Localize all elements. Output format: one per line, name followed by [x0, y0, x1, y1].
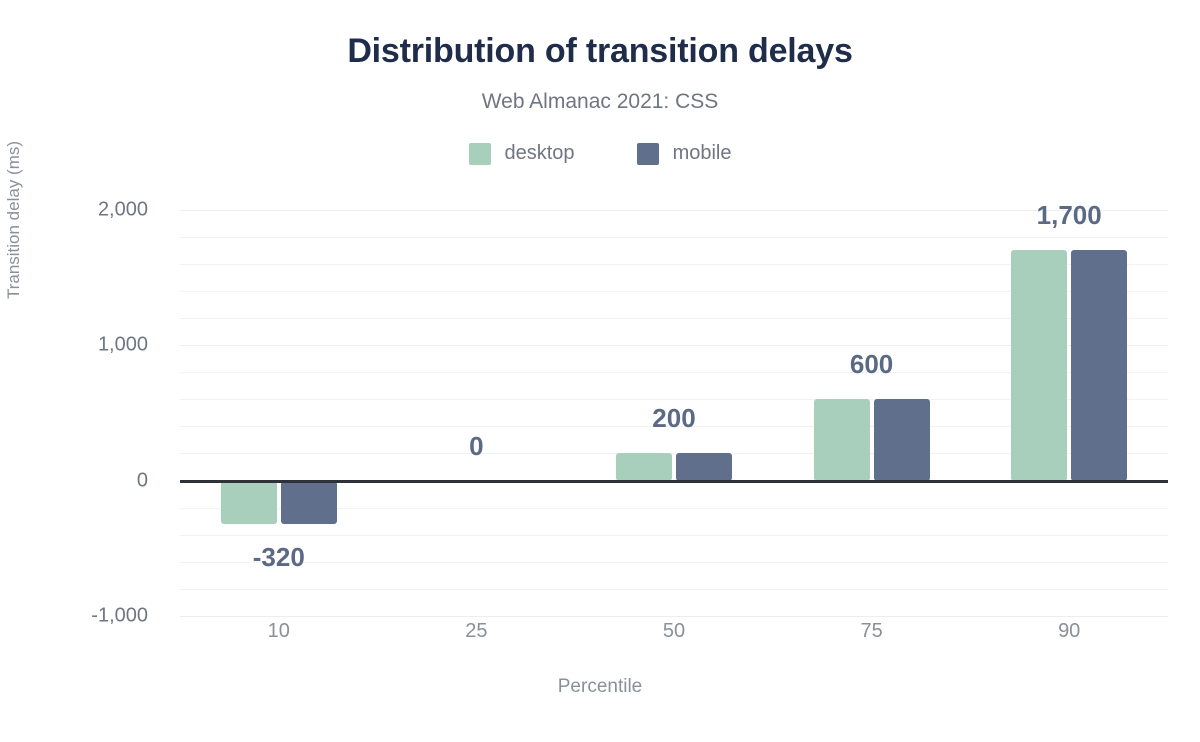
- bar-desktop-10[interactable]: [221, 481, 277, 524]
- x-axis-tick-label: 90: [989, 620, 1149, 643]
- legend-label-mobile: mobile: [673, 142, 732, 165]
- y-axis-tick-label: -1,000: [0, 605, 148, 628]
- chart-title: Distribution of transition delays: [0, 32, 1200, 71]
- legend-item-mobile[interactable]: mobile: [637, 142, 732, 165]
- legend-swatch-desktop: [469, 143, 491, 165]
- legend-swatch-mobile: [637, 143, 659, 165]
- x-axis-tick-label: 50: [594, 620, 754, 643]
- chart-container: Distribution of transition delays Web Al…: [0, 0, 1200, 742]
- plot-area: -1,00001,0002,0001025507590-32002006001,…: [180, 196, 1168, 616]
- bar-desktop-50[interactable]: [616, 453, 672, 480]
- y-axis-title: Transition delay (ms): [4, 70, 24, 370]
- x-axis-tick-label: 75: [792, 620, 952, 643]
- data-label-75: 600: [772, 349, 972, 380]
- bar-mobile-50[interactable]: [676, 453, 732, 480]
- data-label-50: 200: [574, 403, 774, 434]
- x-axis-tick-label: 10: [199, 620, 359, 643]
- zero-axis-line: [180, 480, 1168, 483]
- chart-subtitle: Web Almanac 2021: CSS: [0, 90, 1200, 114]
- x-axis-tick-label: 25: [396, 620, 556, 643]
- gridline-minor: [180, 535, 1168, 536]
- x-axis-title: Percentile: [0, 676, 1200, 698]
- data-label-25: 0: [376, 431, 576, 462]
- bar-mobile-10[interactable]: [281, 481, 337, 524]
- gridline-minor: [180, 589, 1168, 590]
- data-label-10: -320: [179, 542, 379, 573]
- legend-item-desktop[interactable]: desktop: [469, 142, 575, 165]
- y-axis-tick-label: 0: [0, 469, 148, 492]
- bar-desktop-75[interactable]: [814, 399, 870, 480]
- data-label-90: 1,700: [969, 200, 1169, 231]
- gridline-minor: [180, 237, 1168, 238]
- bar-desktop-90[interactable]: [1011, 250, 1067, 480]
- bar-mobile-75[interactable]: [874, 399, 930, 480]
- chart-legend: desktop mobile: [0, 142, 1200, 165]
- gridline-major: [180, 616, 1168, 617]
- legend-label-desktop: desktop: [505, 142, 575, 165]
- bar-mobile-90[interactable]: [1071, 250, 1127, 480]
